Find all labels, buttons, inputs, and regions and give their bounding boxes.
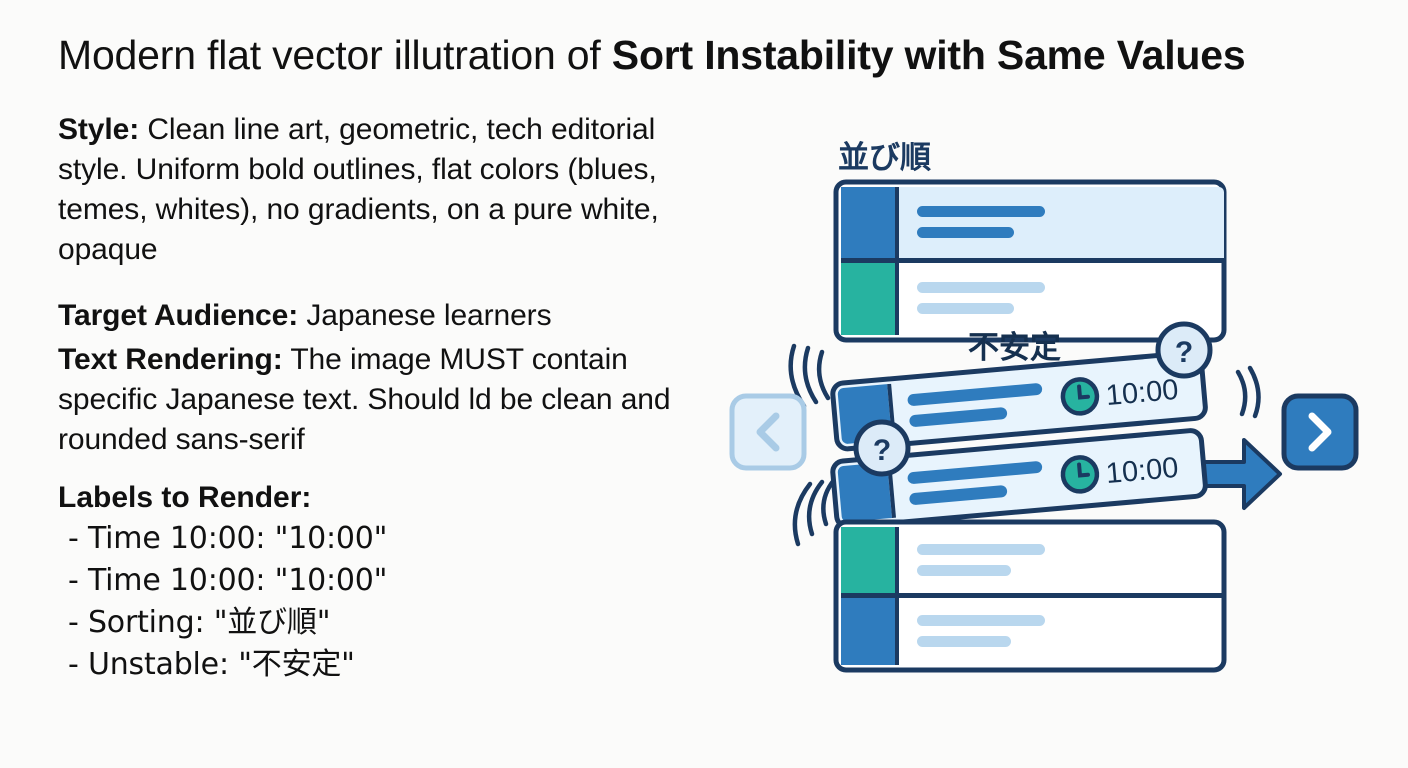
- prev-button[interactable]: [732, 396, 804, 468]
- bottom-row-2-bar-short: [917, 636, 1011, 647]
- bottom-row-1-color-chip: [841, 527, 895, 595]
- page-title: Modern flat vector illutration of Sort I…: [58, 34, 1358, 77]
- motion-line-upper-2: [805, 348, 816, 402]
- motion-lines-right-group: [1238, 368, 1259, 416]
- unstable-label: 不安定: [968, 330, 1061, 366]
- next-button[interactable]: [1284, 396, 1356, 468]
- audience-label: Target Audience:: [58, 299, 298, 332]
- style-label: Style:: [58, 113, 139, 146]
- rendering-paragraph: Text Rendering: The image MUST contain s…: [58, 340, 718, 460]
- bottom-row-2-color-chip: [841, 598, 895, 665]
- illustration: 並び順 不安定: [716, 110, 1376, 710]
- labels-heading: Labels to Render:: [58, 478, 718, 518]
- top-row-2-bar-long: [917, 282, 1045, 293]
- bottom-row-1-bar-short: [917, 565, 1011, 576]
- bottom-card-stack: [836, 522, 1224, 670]
- slide-root: Modern flat vector illutration of Sort I…: [0, 0, 1408, 768]
- shift-arrow: [1202, 440, 1280, 508]
- label-item-time-1: - Time 10:00: "10:00": [58, 518, 718, 560]
- top-row-1-color-chip: [841, 187, 895, 261]
- style-paragraph: Style: Clean line art, geometric, tech e…: [58, 110, 718, 270]
- label-item-sorting: - Sorting: "並び順": [58, 602, 718, 644]
- question-badge-bottom-label: ?: [873, 434, 891, 467]
- time-label-lower: 10:00: [1105, 452, 1180, 490]
- bottom-row-1-bar-long: [917, 544, 1045, 555]
- sorting-label: 並び順: [838, 140, 931, 176]
- question-badge-bottom: ?: [856, 422, 908, 474]
- top-row-2-bar-short: [917, 303, 1014, 314]
- top-row-1-bar-short: [917, 227, 1014, 238]
- rendering-label: Text Rendering:: [58, 343, 283, 376]
- audience-paragraph: Target Audience: Japanese learners: [58, 296, 718, 336]
- page-title-bold: Sort Instability with Same Values: [612, 32, 1246, 78]
- top-card-stack: [836, 182, 1224, 340]
- label-item-time-2: - Time 10:00: "10:00": [58, 560, 718, 602]
- top-row-1-bar-long: [917, 206, 1045, 217]
- motion-line-lower-2: [809, 482, 822, 534]
- style-text: Clean line art, geometric, tech editoria…: [58, 113, 659, 266]
- clock-icon-upper: [1062, 378, 1099, 415]
- label-item-unstable: - Unstable: "不安定": [58, 644, 718, 686]
- motion-line-right-2: [1250, 368, 1259, 416]
- motion-line-right-1: [1238, 372, 1245, 414]
- clock-icon-lower: [1062, 456, 1099, 493]
- bottom-row-2-bar-long: [917, 615, 1045, 626]
- motion-line-upper-1: [819, 352, 828, 398]
- page-title-prefix: Modern flat vector illutration of: [58, 32, 612, 78]
- time-label-upper: 10:00: [1105, 374, 1180, 412]
- top-row-2-color-chip: [841, 263, 895, 335]
- spec-text-column: Style: Clean line art, geometric, tech e…: [58, 110, 718, 686]
- audience-text: Japanese learners: [298, 299, 551, 332]
- question-badge-top: ?: [1158, 324, 1210, 376]
- question-badge-top-label: ?: [1175, 336, 1193, 369]
